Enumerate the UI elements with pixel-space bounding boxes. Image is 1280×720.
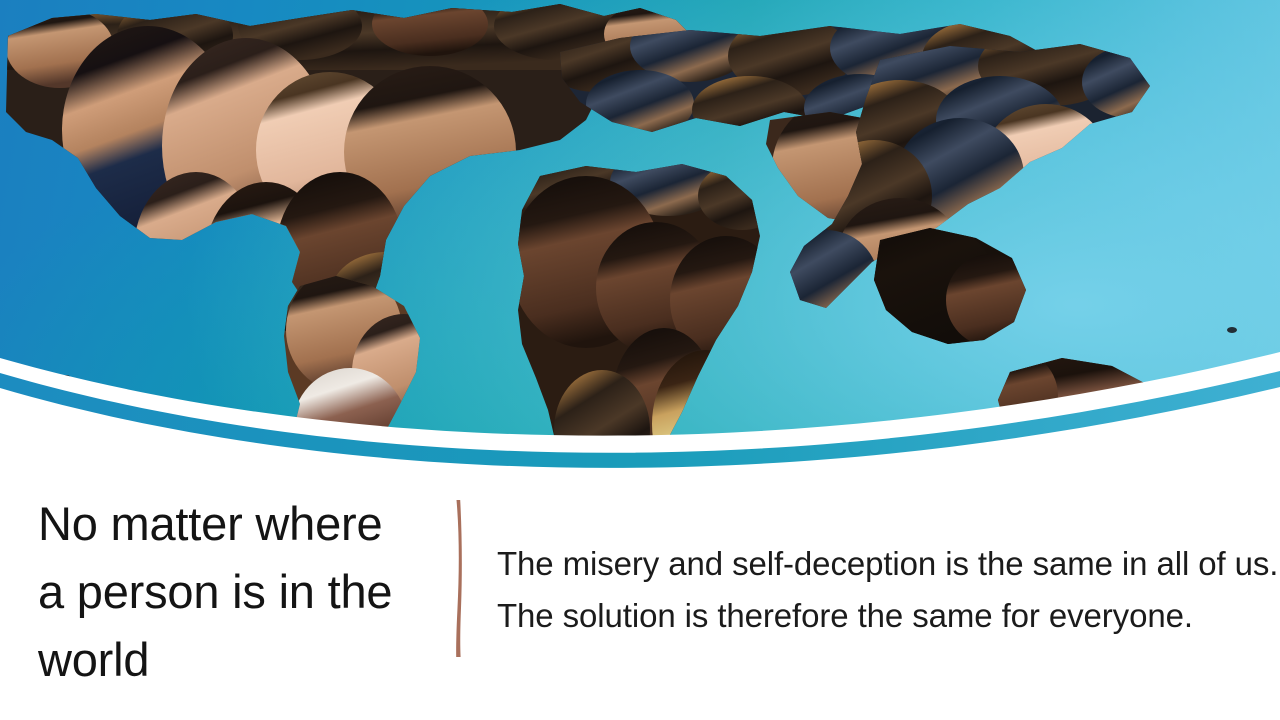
body-line-1: The misery and self-deception is the sam… <box>497 538 1257 590</box>
world-map-graphic <box>0 0 1280 492</box>
vertical-accent-bar <box>447 498 469 660</box>
slide-canvas: No matter where a person is in the world… <box>0 0 1280 720</box>
world-map-of-faces-banner <box>0 0 1280 492</box>
page-title: No matter where a person is in the world <box>38 490 428 694</box>
body-line-2: The solution is therefore the same for e… <box>497 590 1257 642</box>
white-curved-divider <box>0 330 1280 492</box>
body-text-block: The misery and self-deception is the sam… <box>497 538 1257 642</box>
content-area: No matter where a person is in the world… <box>0 492 1280 720</box>
